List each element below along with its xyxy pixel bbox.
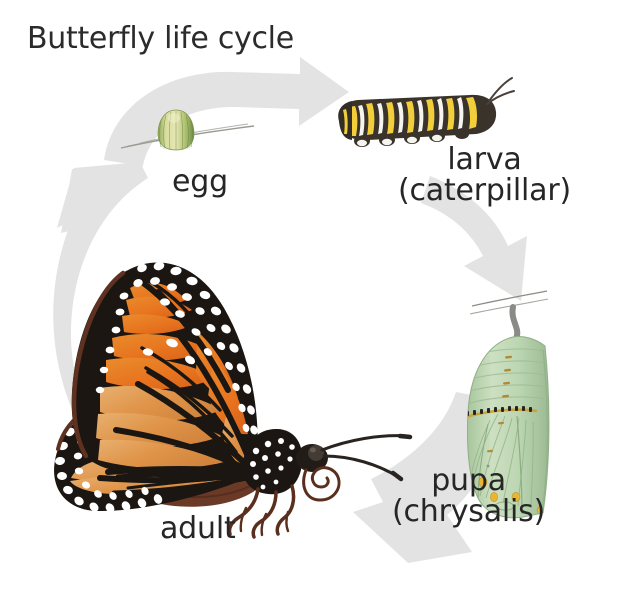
stage-label-adult: adult [160,514,236,545]
butterfly-proboscis [304,468,339,500]
stage-label-larva: larva (caterpillar) [398,145,571,207]
stage-label-pupa-text: pupa [431,463,506,498]
arrow-egg-to-larva [104,57,349,166]
stage-label-pupa-subtitle: (chrysalis) [392,497,545,528]
stage-label-egg-text: egg [172,164,228,199]
caterpillar-illustration [338,78,514,147]
butterfly-life-cycle-diagram: Butterfly life cycle egg larva (caterpil… [0,0,640,591]
butterfly-eye-highlight [310,448,316,453]
egg-highlight [168,113,180,123]
butterfly-illustration [54,260,410,537]
butterfly-eye [308,445,324,461]
stage-label-egg: egg [172,167,228,198]
chrysalis-support-line-2 [470,299,548,314]
page-title: Butterfly life cycle [27,21,294,56]
stage-label-pupa: pupa (chrysalis) [392,466,545,528]
caterpillar-tentacles [487,78,514,104]
stage-label-larva-subtitle: (caterpillar) [398,176,571,207]
stage-label-larva-text: larva [447,142,521,177]
stage-label-adult-text: adult [160,511,236,546]
